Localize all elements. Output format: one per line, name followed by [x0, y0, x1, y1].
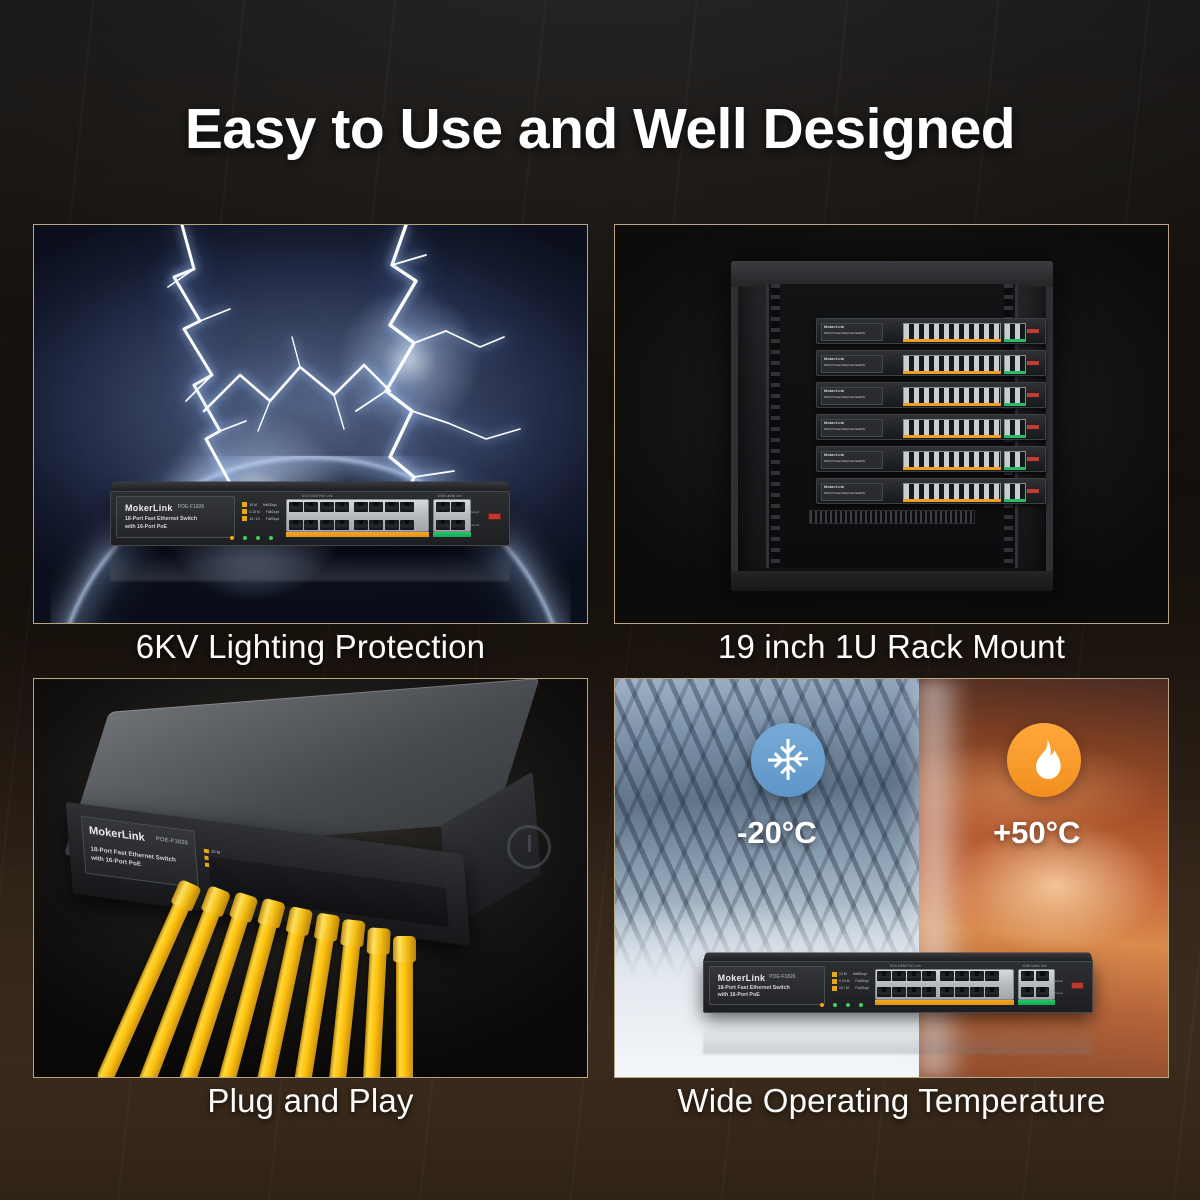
feature-card-operating-temperature: -20°C +50°C MokerLink POE-F1826 — [614, 678, 1169, 1090]
uplink-indicator-strip — [433, 532, 471, 537]
poe-port-row-bottom — [289, 520, 427, 530]
card-caption-rack-mount: 19 inch 1U Rack Mount — [614, 628, 1169, 666]
flame-icon — [1021, 737, 1067, 783]
status-led-row — [230, 536, 273, 540]
switch-label-plate-iso: MokerLink POE-F1826 18-Port Fast Etherne… — [81, 816, 199, 889]
rack-interior: MokerLink 18-Port Fast Ethernet Switch M… — [766, 284, 1018, 568]
infographic-root: Easy to Use and Well Designed — [0, 0, 1200, 1200]
rack-switch-unit: MokerLink 18-Port Fast Ethernet Switch — [816, 350, 1046, 376]
poe-port-group-label: 8/16 100M PoE Link — [890, 964, 921, 968]
led-legend: 10 MHalf/Dupl 0 10 MFull/Dupl 10 / 10Ful… — [832, 972, 869, 993]
feature-card-lightning-protection: MokerLink POE-F1826 18-Port Fast Etherne… — [33, 224, 588, 636]
product-description: 18-Port Fast Ethernet Switchwith 16-Port… — [718, 985, 790, 999]
dip-switch-label-extend: Extend — [1054, 991, 1063, 995]
uplink-port-row-top — [1021, 971, 1053, 981]
power-logo-icon — [507, 825, 551, 869]
switch-label-plate: MokerLink POE-F1826 18-Port Fast Etherne… — [709, 966, 825, 1005]
poe-port-block — [875, 969, 1015, 1000]
switch-faceplate: MokerLink POE-F1826 18-Port Fast Etherne… — [110, 491, 510, 546]
switch-reflection — [703, 1014, 1093, 1054]
model-number: POE-F1826 — [156, 836, 189, 846]
brand-logo: MokerLink — [718, 973, 766, 983]
network-switch-front: MokerLink POE-F1826 18-Port Fast Etherne… — [703, 951, 1093, 1013]
rack-switch-unit: MokerLink 18-Port Fast Ethernet Switch — [816, 478, 1046, 504]
product-description: 18-Port Fast Ethernet Switchwith 16-Port… — [90, 846, 177, 875]
dip-switch-block[interactable] — [1071, 982, 1084, 989]
photo-lightning-protection: MokerLink POE-F1826 18-Port Fast Etherne… — [33, 224, 588, 624]
snowflake-icon — [765, 737, 811, 783]
rack-vent-grille — [809, 510, 975, 524]
hot-badge — [1007, 723, 1081, 797]
photo-plug-and-play: MokerLink POE-F1826 18-Port Fast Etherne… — [33, 678, 588, 1078]
status-led-row — [820, 1003, 863, 1007]
poe-port-row-top — [289, 502, 427, 512]
ethernet-cable — [396, 953, 413, 1078]
model-number: POE-F1826 — [178, 504, 204, 510]
rack-bottom-bar — [731, 571, 1053, 591]
card-caption-plug-and-play: Plug and Play — [33, 1082, 588, 1120]
feature-card-plug-and-play: MokerLink POE-F1826 18-Port Fast Etherne… — [33, 678, 588, 1090]
uplink-port-block — [1018, 969, 1055, 1000]
uplink-port-group-label: 100M Uplink Link — [1022, 964, 1046, 968]
hot-temperature-value: +50°C — [993, 815, 1080, 851]
card-caption-lightning: 6KV Lighting Protection — [33, 628, 588, 666]
brand-logo: MokerLink — [89, 825, 146, 844]
server-rack-frame: MokerLink 18-Port Fast Ethernet Switch M… — [731, 261, 1053, 591]
card-caption-operating-temperature: Wide Operating Temperature — [614, 1082, 1169, 1120]
uplink-port-row-bottom — [436, 520, 469, 530]
poe-indicator-strip — [875, 1000, 1015, 1005]
uplink-port-row-top — [436, 502, 469, 512]
switch-reflection — [110, 547, 510, 581]
poe-port-block — [286, 499, 429, 532]
uplink-port-group-label: 100M Uplink Link — [437, 494, 461, 498]
cold-badge — [751, 723, 825, 797]
switch-label-plate: MokerLink POE-F1826 18-Port Fast Etherne… — [116, 496, 235, 538]
poe-port-group-label: 8/16 100M PoE Link — [302, 494, 333, 498]
dip-switch-label-default: Default — [470, 510, 480, 514]
dip-switch-label-extend: Extend — [470, 523, 479, 527]
poe-indicator-strip — [286, 532, 429, 537]
photo-rack-mount: MokerLink 18-Port Fast Ethernet Switch M… — [614, 224, 1169, 624]
photo-operating-temperature: -20°C +50°C MokerLink POE-F1826 — [614, 678, 1169, 1078]
switch-faceplate: MokerLink POE-F1826 18-Port Fast Etherne… — [703, 961, 1093, 1013]
uplink-port-row-bottom — [1021, 987, 1053, 997]
uplink-port-block — [433, 499, 471, 532]
feature-card-rack-mount: MokerLink 18-Port Fast Ethernet Switch M… — [614, 224, 1169, 636]
rack-rail-left — [771, 284, 780, 568]
brand-logo: MokerLink — [125, 503, 173, 513]
poe-port-row-bottom — [877, 987, 1012, 997]
led-legend: 10 MHalf/Dupl 0 10 MFull/Dupl 10 / 10Ful… — [242, 502, 279, 523]
uplink-indicator-strip — [1018, 1000, 1055, 1005]
rack-switch-unit: MokerLink 18-Port Fast Ethernet Switch — [816, 382, 1046, 408]
dip-switch-block[interactable] — [488, 513, 501, 520]
page-title: Easy to Use and Well Designed — [0, 96, 1200, 162]
rack-switch-unit: MokerLink 18-Port Fast Ethernet Switch — [816, 318, 1046, 344]
model-number: POE-F1826 — [769, 974, 795, 980]
dip-switch-label-default: Default — [1053, 979, 1063, 983]
network-switch-front: MokerLink POE-F1826 18-Port Fast Etherne… — [110, 480, 510, 546]
rack-switch-unit: MokerLink 18-Port Fast Ethernet Switch — [816, 414, 1046, 440]
product-description: 18-Port Fast Ethernet Switchwith 16-Port… — [125, 516, 197, 530]
poe-port-row-top — [877, 971, 1012, 981]
cold-temperature-value: -20°C — [737, 815, 817, 851]
feature-grid: MokerLink POE-F1826 18-Port Fast Etherne… — [33, 224, 1169, 1176]
rack-switch-unit: MokerLink 18-Port Fast Ethernet Switch — [816, 446, 1046, 472]
